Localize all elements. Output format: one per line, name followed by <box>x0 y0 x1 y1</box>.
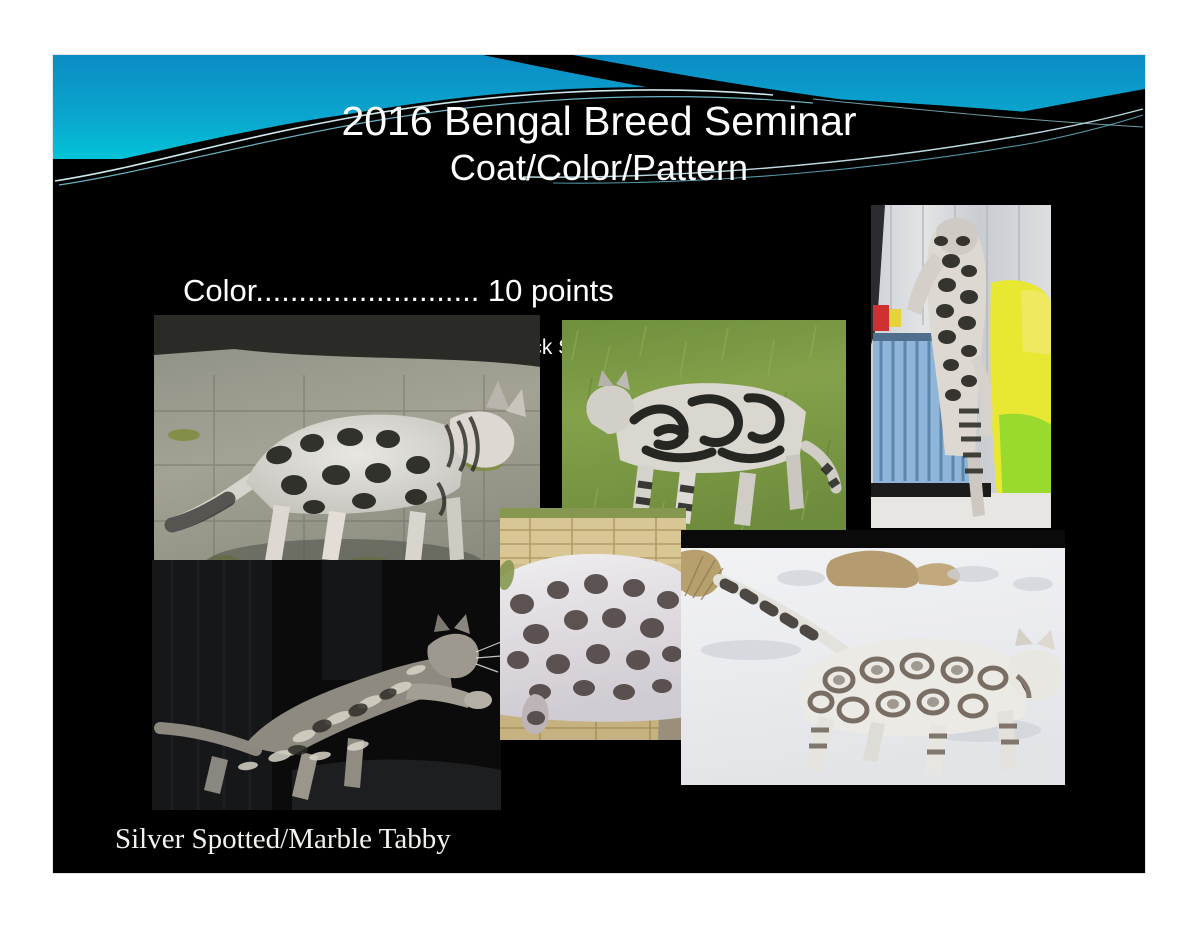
photo-silver-rosetted-bengal-in-snow <box>681 530 1065 785</box>
silver-bengal-standing-at-show-image <box>871 205 1051 528</box>
presentation-slide: 2016 Bengal Breed Seminar Coat/Color/Pat… <box>53 55 1145 873</box>
photo-silver-bengal-stretching-dark-background <box>152 560 501 810</box>
silver-rosetted-bengal-in-snow-image <box>681 530 1065 785</box>
caption-silver-spotted-marble-tabby: Silver Spotted/Marble Tabby <box>115 821 451 857</box>
silver-bengal-stretching-dark-background-image <box>152 560 501 810</box>
slide-page: 2016 Bengal Breed Seminar Coat/Color/Pat… <box>0 0 1200 927</box>
slide-banner-decoration <box>53 55 1145 203</box>
banner-swoosh-graphic <box>53 55 1145 203</box>
color-points-text: Color.......................... 10 point… <box>183 271 614 311</box>
photo-silver-bengal-standing-at-show <box>871 205 1051 528</box>
silver-spotted-coat-closeup-image <box>500 508 686 740</box>
photo-silver-spotted-coat-closeup <box>500 508 686 740</box>
